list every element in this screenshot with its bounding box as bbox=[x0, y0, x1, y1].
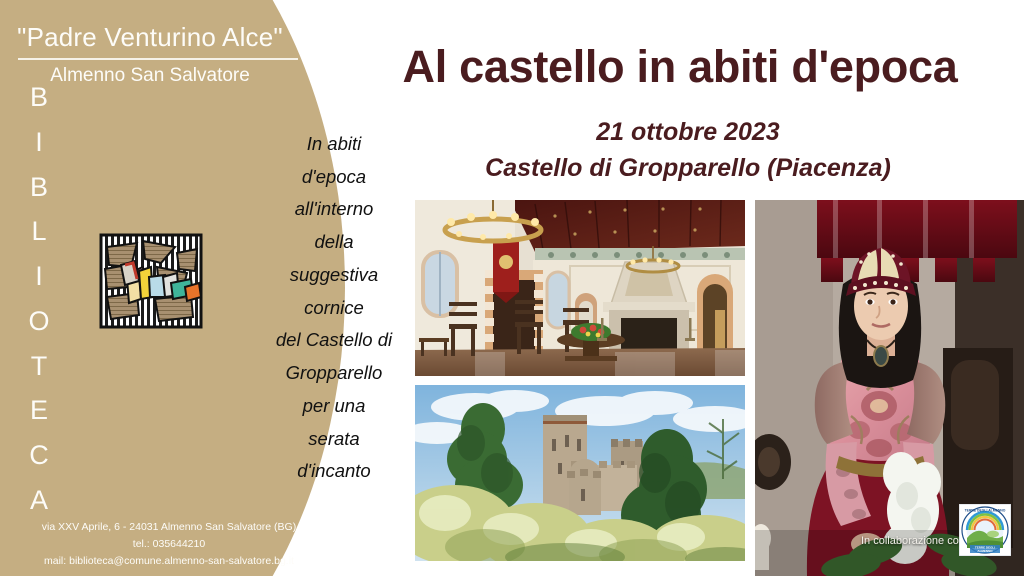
library-name: "Padre Venturino Alce" bbox=[0, 22, 300, 53]
event-place: Castello di Gropparello (Piacenza) bbox=[408, 154, 968, 183]
description-line: serata bbox=[258, 423, 410, 456]
biblioteca-vertical-word: B I B L I O T E C A bbox=[18, 84, 60, 514]
svg-text:TERRE DEGLI ALMENNO: TERRE DEGLI ALMENNO bbox=[965, 509, 1006, 513]
library-contact: via XXV Aprile, 6 - 24031 Almenno San Sa… bbox=[24, 519, 314, 569]
library-name-divider bbox=[18, 58, 298, 60]
description-line: cornice bbox=[258, 292, 410, 325]
contact-phone: tel.: 035644210 bbox=[24, 536, 314, 553]
terre-degli-almenno-logo-icon: TERRE DEGLI ALMENNO TERRE DEGLI ALMENNO bbox=[959, 504, 1011, 556]
castle-exterior-photo bbox=[415, 385, 745, 561]
vertical-letter: B bbox=[30, 174, 48, 201]
event-description: In abiti d'epoca all'interno della sugge… bbox=[258, 128, 410, 488]
vertical-letter: C bbox=[29, 442, 49, 469]
vertical-letter: O bbox=[28, 308, 49, 335]
description-line: della bbox=[258, 226, 410, 259]
contact-mail: mail: biblioteca@comune.almenno-san-salv… bbox=[24, 553, 314, 570]
book-collage-logo-icon bbox=[99, 233, 203, 329]
collaboration-label: In collaborazione con bbox=[861, 535, 965, 547]
vertical-letter: L bbox=[31, 218, 46, 245]
poster-canvas: "Padre Venturino Alce" Almenno San Salva… bbox=[0, 0, 1024, 576]
description-line: all'interno bbox=[258, 193, 410, 226]
description-line: In abiti bbox=[258, 128, 410, 161]
description-line: Gropparello bbox=[258, 357, 410, 390]
vertical-letter: B bbox=[30, 84, 48, 111]
event-date: 21 ottobre 2023 bbox=[408, 118, 968, 147]
contact-address: via XXV Aprile, 6 - 24031 Almenno San Sa… bbox=[24, 519, 314, 536]
vertical-letter: I bbox=[35, 129, 43, 156]
description-line: del Castello di bbox=[258, 324, 410, 357]
castle-hall-photo bbox=[415, 200, 745, 376]
description-line: d'incanto bbox=[258, 455, 410, 488]
vertical-letter: T bbox=[31, 353, 48, 380]
description-line: d'epoca bbox=[258, 161, 410, 194]
vertical-letter: A bbox=[30, 487, 48, 514]
description-line: per una bbox=[258, 390, 410, 423]
vertical-letter: E bbox=[30, 397, 48, 424]
svg-text:ALMENNO: ALMENNO bbox=[977, 549, 993, 553]
description-line: suggestiva bbox=[258, 259, 410, 292]
vertical-letter: I bbox=[35, 263, 43, 290]
page-title: Al castello in abiti d'epoca bbox=[336, 41, 1024, 93]
